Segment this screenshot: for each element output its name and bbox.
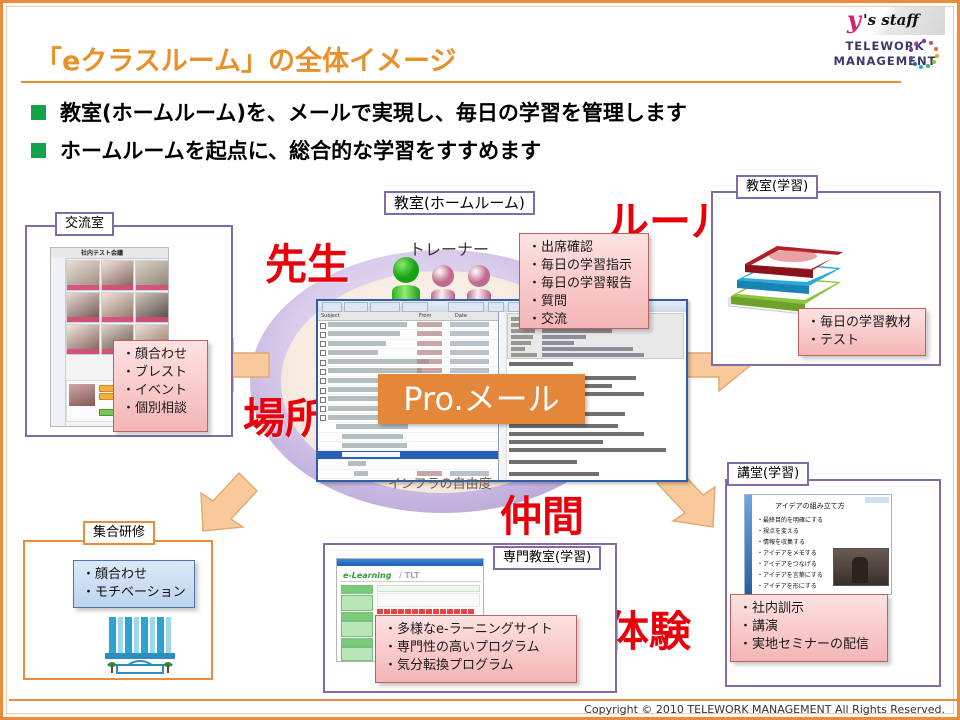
- vc-name-bar: [136, 317, 168, 322]
- vc-titlebar: 社内テスト会議: [51, 248, 168, 259]
- slide-bullet: ・情報を収集する: [757, 537, 805, 546]
- expand-icon[interactable]: [320, 369, 326, 375]
- slide-bullet: ・最終目的を明確にする: [757, 515, 823, 524]
- mail-row-selected[interactable]: [318, 451, 498, 460]
- slide-bullet: ・アイデアを言葉にする: [757, 570, 823, 579]
- panel-label-exchange-room: 交流室: [55, 212, 114, 236]
- bullet-text: 教室(ホームルーム)を、メールで実現し、毎日の学習を管理します: [60, 97, 687, 127]
- mail-row[interactable]: [318, 321, 498, 330]
- infra-label: インフラの自由度: [388, 473, 492, 492]
- panel-label-classroom-study: 教室(学習): [736, 175, 818, 199]
- elearning-brand: e-Learning: [343, 571, 391, 580]
- toolbar-button[interactable]: [344, 302, 368, 312]
- footer-divider: [9, 699, 957, 701]
- callout-line: ・顔合わせ: [122, 346, 199, 364]
- slide-bullet: ・アイデアをメモする: [757, 548, 817, 557]
- pro-mail-badge: Pro.メール: [378, 374, 585, 424]
- mail-row[interactable]: [318, 358, 498, 367]
- callout-line: ・個別相談: [122, 400, 199, 418]
- slide-bullet: ・視点を変える: [757, 526, 799, 535]
- callout-group-training: ・顔合わせ ・モチベーション: [73, 560, 195, 608]
- bullet-item: 教室(ホームルーム)を、メールで実現し、毎日の学習を管理します: [31, 97, 687, 127]
- callout-line: ・テスト: [807, 332, 917, 350]
- el-nav-item[interactable]: [341, 647, 373, 661]
- slide-canvas: 「eクラスルーム」の全体イメージ y 's staff TELEWORK MAN…: [0, 0, 960, 720]
- expand-icon[interactable]: [320, 341, 326, 347]
- el-nav-item[interactable]: [341, 621, 373, 637]
- callout-line: ・毎日の学習報告: [528, 275, 640, 293]
- callout-line: ・実地セミナーの配信: [739, 636, 879, 654]
- slide-bullet: ・アイデアを形にする: [757, 581, 817, 590]
- brand-logo: y 's staff TELEWORK MANAGEMENT: [825, 7, 945, 79]
- callout-line: ・出席確認: [528, 239, 640, 257]
- keyword-nakama: 仲間: [500, 483, 584, 544]
- vc-sidebar: [51, 258, 66, 426]
- vc-participant-tile: [101, 260, 135, 291]
- el-nav-item[interactable]: [341, 595, 373, 611]
- elearning-brand2: / TLT: [399, 571, 419, 580]
- panel-label-group-training: 集合研修: [83, 521, 155, 545]
- el-nav-item[interactable]: [341, 638, 373, 647]
- arrow-down-left-icon: [195, 465, 267, 537]
- mail-row[interactable]: [318, 442, 498, 451]
- callout-line: ・社内訓示: [739, 600, 879, 618]
- callout-line: ・顔合わせ: [82, 566, 186, 584]
- callout-lecture-hall: ・社内訓示 ・講演 ・実地セミナーの配信: [730, 594, 888, 662]
- expand-icon[interactable]: [320, 406, 326, 412]
- slide-left-band: [745, 495, 752, 594]
- callout-line: ・毎日の学習教材: [807, 314, 917, 332]
- square-bullet-icon: [31, 143, 46, 158]
- bullet-item: ホームルームを起点に、総合的な学習をすすめます: [31, 135, 687, 165]
- vc-participant-tile: [135, 260, 169, 291]
- vc-participant-tile: [135, 292, 169, 323]
- vc-participant-tile: [66, 260, 100, 291]
- vc-name-bar: [67, 349, 99, 354]
- slide-title: アイデアの組み立て方: [775, 501, 845, 511]
- vc-name-bar: [67, 285, 99, 290]
- books-stack-icon: [721, 218, 847, 318]
- el-nav-item[interactable]: [341, 585, 373, 594]
- toolbar-button[interactable]: [322, 302, 342, 312]
- panel-label-special-classroom: 専門教室(学習): [493, 546, 601, 570]
- slide-logo-placeholder: [865, 497, 889, 503]
- panel-label-homeroom: 教室(ホームルーム): [384, 191, 535, 215]
- callout-line: ・ブレスト: [122, 364, 199, 382]
- mail-list-header: SubjectFromDate: [318, 312, 498, 321]
- page-title: 「eクラスルーム」の全体イメージ: [35, 39, 456, 78]
- expand-icon[interactable]: [320, 360, 326, 366]
- callout-line: ・イベント: [122, 382, 199, 400]
- keyword-basho: 場所: [243, 385, 327, 446]
- mail-row[interactable]: [318, 349, 498, 358]
- callout-homeroom: ・出席確認 ・毎日の学習指示 ・毎日の学習報告 ・質問 ・交流: [519, 233, 649, 329]
- mail-row[interactable]: [318, 460, 498, 469]
- callout-line: ・講演: [739, 618, 879, 636]
- keyword-taiken: 体験: [607, 598, 691, 659]
- el-nav-item[interactable]: [341, 612, 373, 621]
- vc-name-bar: [102, 317, 134, 322]
- ys-logo-staff: 's staff: [863, 11, 919, 29]
- ys-staff-logo: y 's staff: [825, 7, 945, 35]
- expand-icon[interactable]: [320, 397, 326, 403]
- square-bullet-icon: [31, 105, 46, 120]
- vc-title-text: 社内テスト会議: [81, 248, 123, 257]
- callout-special-classroom: ・多様なe-ラーニングサイト ・専門性の高いプログラム ・気分転換プログラム: [375, 615, 577, 683]
- expand-icon[interactable]: [320, 332, 326, 338]
- title-underline: [21, 81, 901, 83]
- vc-name-bar: [67, 317, 99, 322]
- callout-line: ・質問: [528, 293, 640, 311]
- bullet-text: ホームルームを起点に、総合的な学習をすすめます: [60, 135, 541, 165]
- toolbar-button[interactable]: [370, 302, 400, 312]
- toolbar-button[interactable]: [488, 302, 504, 312]
- lecture-slide-screenshot: アイデアの組み立て方 ・最終目的を明確にする ・視点を変える ・情報を収集する …: [744, 494, 892, 595]
- vc-name-bar: [102, 285, 134, 290]
- toolbar-button[interactable]: [402, 302, 428, 312]
- panel-label-lecture-hall: 講堂(学習): [727, 462, 809, 486]
- mail-row[interactable]: [318, 423, 498, 432]
- slide-bullet: ・アイデアをつなげる: [757, 559, 817, 568]
- callout-line: ・モチベーション: [82, 584, 186, 602]
- podium-icon: [103, 615, 177, 675]
- expand-icon[interactable]: [320, 415, 326, 421]
- expand-icon[interactable]: [320, 350, 326, 356]
- mail-row[interactable]: [318, 340, 498, 349]
- vc-participant-tile: [66, 324, 100, 355]
- mail-row[interactable]: [318, 330, 498, 339]
- vc-name-bar: [136, 285, 168, 290]
- toolbar-button[interactable]: [448, 302, 484, 312]
- bullet-list: 教室(ホームルーム)を、メールで実現し、毎日の学習を管理します ホームルームを起…: [31, 97, 687, 173]
- callout-line: ・毎日の学習指示: [528, 257, 640, 275]
- vc-participant-tile: [101, 292, 135, 323]
- callout-line: ・専門性の高いプログラム: [384, 639, 568, 657]
- callout-line: ・気分転換プログラム: [384, 657, 568, 675]
- vc-self-thumbnail: [69, 384, 95, 406]
- keyword-sensei: 先生: [265, 231, 349, 292]
- callout-line: ・交流: [528, 311, 640, 329]
- copyright-text: Copyright © 2010 TELEWORK MANAGEMENT All…: [584, 703, 945, 716]
- browser-chrome: [337, 559, 483, 566]
- speaker-video-thumbnail: [833, 548, 889, 586]
- mail-row[interactable]: [318, 433, 498, 442]
- expand-icon[interactable]: [320, 378, 326, 384]
- vc-participant-tile: [66, 292, 100, 323]
- dot-ring-icon: [907, 37, 941, 71]
- callout-exchange-room: ・顔合わせ ・ブレスト ・イベント ・個別相談: [113, 340, 208, 432]
- expand-icon[interactable]: [320, 323, 326, 329]
- expand-icon[interactable]: [320, 388, 326, 394]
- callout-line: ・多様なe-ラーニングサイト: [384, 621, 568, 639]
- callout-classroom-study: ・毎日の学習教材 ・テスト: [798, 308, 926, 356]
- ys-logo-y: y: [847, 7, 861, 34]
